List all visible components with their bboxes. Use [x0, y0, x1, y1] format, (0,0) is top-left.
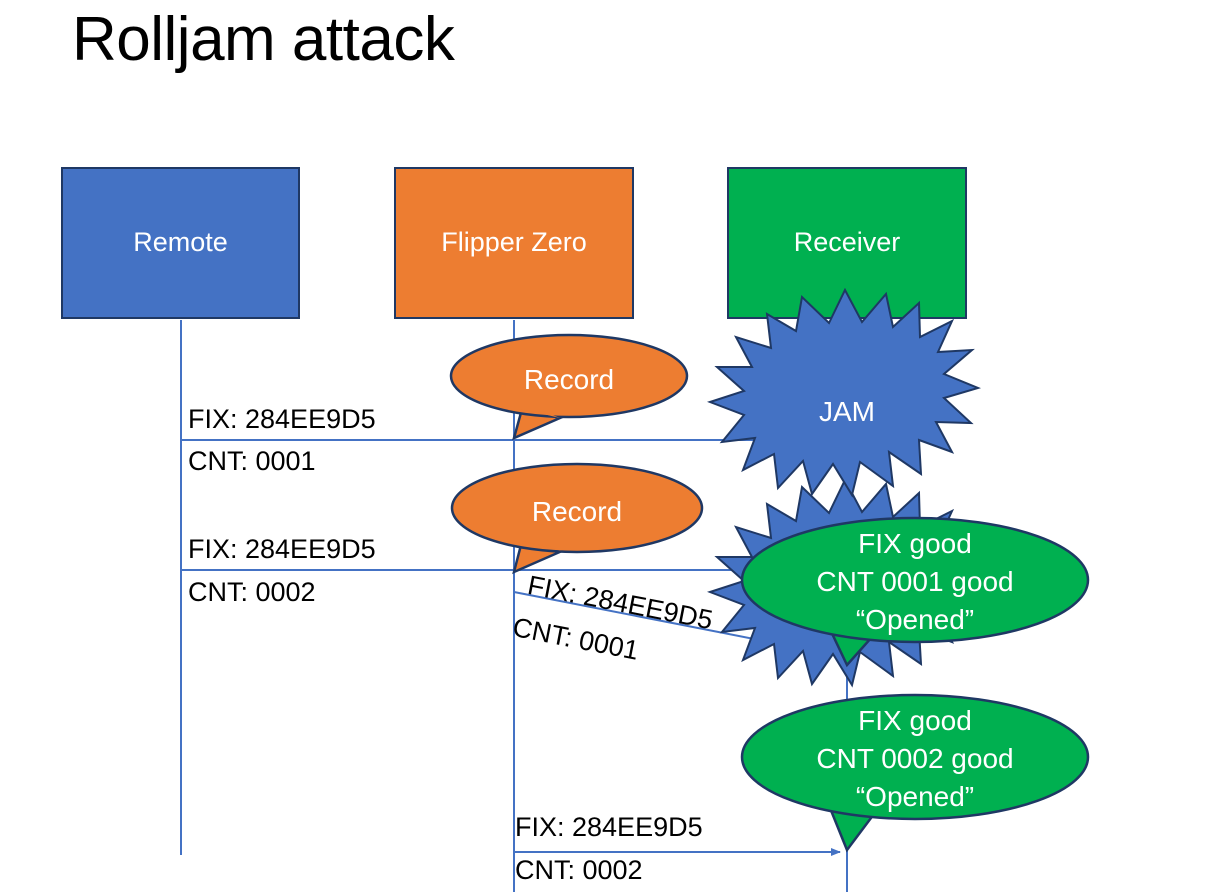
message-label-msg4-fix: FIX: 284EE9D5	[515, 812, 703, 843]
callout-receiver-ok-1[interactable]	[742, 518, 1088, 665]
message-label-msg2-cnt: CNT: 0002	[188, 577, 316, 608]
receiver-callout-layer	[0, 0, 1231, 892]
slide-canvas: Rolljam attack Remote Flipper Zero Recei…	[0, 0, 1231, 892]
message-label-msg2-fix: FIX: 284EE9D5	[188, 534, 376, 565]
message-label-msg4-cnt: CNT: 0002	[515, 855, 643, 886]
message-label-msg1-cnt: CNT: 0001	[188, 446, 316, 477]
message-label-msg1-fix: FIX: 284EE9D5	[188, 404, 376, 435]
callout-receiver-ok-2[interactable]	[742, 695, 1088, 850]
